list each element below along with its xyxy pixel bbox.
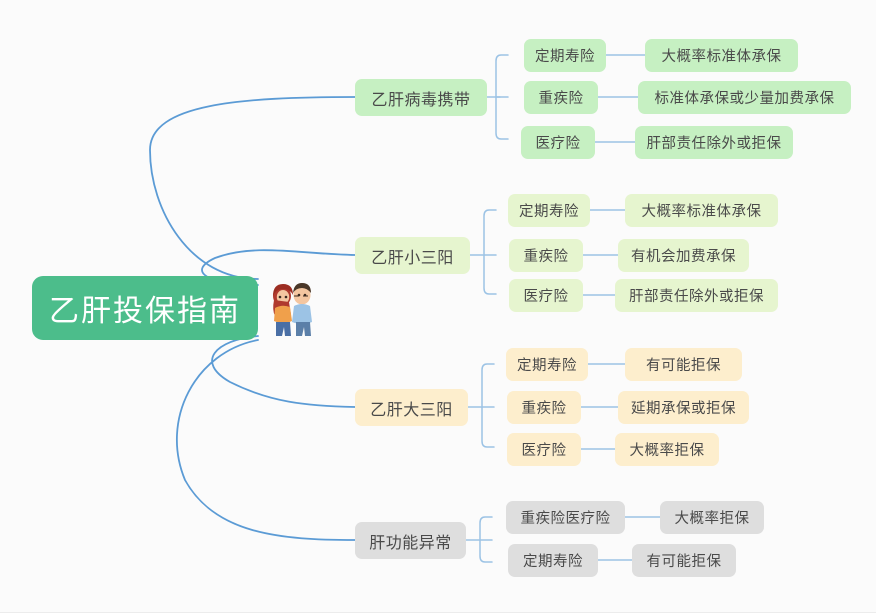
- child-label: 定期寿险: [519, 200, 579, 221]
- branch-2-result-3[interactable]: 肝部责任除外或拒保: [615, 279, 778, 312]
- branch-3-result-2[interactable]: 延期承保或拒保: [618, 391, 749, 424]
- branch-4-result-2[interactable]: 有可能拒保: [632, 544, 736, 577]
- branch-2-child-3[interactable]: 医疗险: [509, 279, 583, 312]
- branch-4-child-1[interactable]: 重疾险医疗险: [506, 501, 625, 534]
- branch-1-child-3[interactable]: 医疗险: [521, 126, 595, 159]
- branch-1-child-2[interactable]: 重疾险: [524, 81, 598, 114]
- result-label: 有机会加费承保: [631, 245, 736, 266]
- root-node[interactable]: 乙肝投保指南: [32, 276, 258, 340]
- result-label: 延期承保或拒保: [631, 397, 736, 418]
- result-label: 大概率拒保: [675, 507, 750, 528]
- child-label: 定期寿险: [523, 550, 583, 571]
- branch-node-1[interactable]: 乙肝病毒携带: [355, 79, 487, 116]
- couple-illustration-icon: [264, 280, 320, 338]
- root-label: 乙肝投保指南: [49, 286, 241, 330]
- curve-root-branch4: [177, 340, 355, 540]
- result-label: 肝部责任除外或拒保: [629, 285, 764, 306]
- child-label: 医疗险: [524, 285, 569, 306]
- branch-2-child-2[interactable]: 重疾险: [509, 239, 583, 272]
- branch-4-result-1[interactable]: 大概率拒保: [660, 501, 764, 534]
- branch-3-child-1[interactable]: 定期寿险: [506, 348, 588, 381]
- branch-3-result-3[interactable]: 大概率拒保: [615, 433, 719, 466]
- branch-3-child-3[interactable]: 医疗险: [507, 433, 581, 466]
- branch-2-result-2[interactable]: 有机会加费承保: [618, 239, 749, 272]
- branch-node-2[interactable]: 乙肝小三阳: [355, 237, 470, 274]
- branch-1-result-2[interactable]: 标准体承保或少量加费承保: [638, 81, 851, 114]
- child-label: 定期寿险: [517, 354, 577, 375]
- result-label: 标准体承保或少量加费承保: [655, 87, 835, 108]
- branch-node-4[interactable]: 肝功能异常: [355, 522, 466, 559]
- curve-root-branch3: [212, 336, 355, 407]
- result-label: 大概率标准体承保: [642, 200, 762, 221]
- result-label: 大概率拒保: [630, 439, 705, 460]
- branch-label-4: 肝功能异常: [369, 529, 452, 553]
- branch-2-result-1[interactable]: 大概率标准体承保: [625, 194, 778, 227]
- result-label: 肝部责任除外或拒保: [647, 132, 782, 153]
- bracket-branch3-spine: [482, 364, 494, 447]
- result-label: 有可能拒保: [646, 354, 721, 375]
- branch-4-child-2[interactable]: 定期寿险: [508, 544, 598, 577]
- child-label: 重疾险: [522, 397, 567, 418]
- branch-2-child-1[interactable]: 定期寿险: [508, 194, 590, 227]
- mindmap-canvas: 乙肝投保指南 乙肝病毒携带 定期寿险 大概率标准体承保 重疾险 标准体承保或少量…: [0, 0, 876, 613]
- branch-1-result-1[interactable]: 大概率标准体承保: [645, 39, 798, 72]
- branch-3-child-2[interactable]: 重疾险: [507, 391, 581, 424]
- child-label: 医疗险: [536, 132, 581, 153]
- child-label: 重疾险: [539, 87, 584, 108]
- branch-3-result-1[interactable]: 有可能拒保: [625, 348, 742, 381]
- branch-label-1: 乙肝病毒携带: [371, 86, 470, 110]
- child-label: 重疾险: [524, 245, 569, 266]
- branch-1-child-1[interactable]: 定期寿险: [524, 39, 606, 72]
- branch-label-3: 乙肝大三阳: [370, 396, 453, 420]
- bracket-branch2-spine: [484, 210, 496, 294]
- result-label: 大概率标准体承保: [662, 45, 782, 66]
- child-label: 重疾险医疗险: [521, 507, 611, 528]
- branch-label-2: 乙肝小三阳: [371, 244, 454, 268]
- branch-node-3[interactable]: 乙肝大三阳: [355, 389, 468, 426]
- child-label: 定期寿险: [535, 45, 595, 66]
- child-label: 医疗险: [522, 439, 567, 460]
- result-label: 有可能拒保: [647, 550, 722, 571]
- branch-1-result-3[interactable]: 肝部责任除外或拒保: [635, 126, 793, 159]
- curve-root-branch1: [150, 97, 355, 279]
